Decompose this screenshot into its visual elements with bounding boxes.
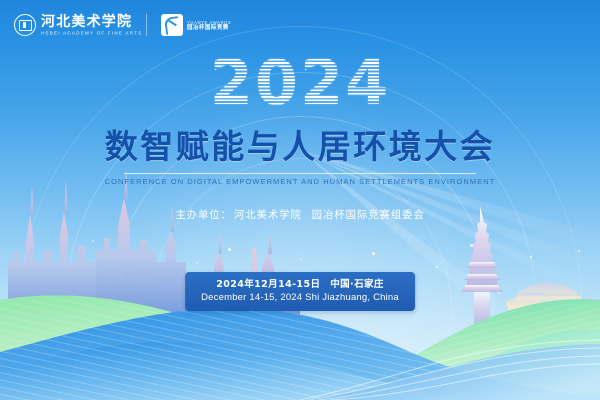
date-badge: 2024年12月14-15日 中国·石家庄 December 14-15, 20… [185,272,415,311]
page-title: 数智赋能与人居环境大会 [0,128,600,166]
sparkle-dot [560,286,562,288]
conference-banner: 河北美术学院 HEBEI ACADEMY OF FINE ARTS YUANYE… [0,0,600,400]
sparkle-dot [578,250,580,252]
wave-strokes [300,340,600,400]
competition-logo[interactable]: YUANYE AWARDS 园冶杯国际竞赛 [161,14,221,36]
chinese-pagoda-silhouette [461,206,503,324]
organizer-name-2: 园冶杯国际竞赛组委会 [312,209,425,221]
sparkle-dot [92,240,94,242]
sparkle-dot [498,292,500,294]
sparkle-dot [372,252,375,255]
logo-bar: 河北美术学院 HEBEI ACADEMY OF FINE ARTS YUANYE… [14,14,221,36]
sparkle-dot [168,290,170,292]
decorative-arc-2 [65,72,537,400]
organizer-name-1: 河北美术学院 [234,209,302,221]
subtitle-divider [124,173,476,174]
sparkle-dot [228,248,231,251]
year-text: 2024 [210,52,391,114]
school-name-cn: 河北美术学院 [41,15,132,30]
sparkle-dot [470,244,473,247]
date-english: December 14-15, 2024 Shi Jiazhuang, Chin… [201,291,399,304]
sparkle-dot [530,256,532,258]
sparkle-dot [82,306,84,308]
chinese-gate-silhouette [504,282,596,344]
school-logo[interactable]: 河北美术学院 HEBEI ACADEMY OF FINE ARTS [14,14,132,36]
year-block: 2024 [0,52,600,114]
organizer-line: 主办单位：河北美术学院园冶杯国际竞赛组委会 [0,207,600,222]
school-name-en: HEBEI ACADEMY OF FINE ARTS [41,31,164,37]
subtitle-english: CONFERENCE ON DIGITAL EMPOWERMENT AND HU… [0,177,600,186]
sparkle-dot [146,250,148,252]
sparkle-dot [28,288,30,290]
wave-foreground [0,330,600,400]
sparkle-dot [58,262,60,264]
sparkle-dot [436,266,438,268]
organizer-label: 主办单位： [175,209,232,221]
hill-blue-center [0,296,600,400]
sparkle-dot [300,258,302,260]
competition-emblem-icon [161,14,183,36]
sparkle-dot [196,262,198,264]
school-emblem-icon [14,14,36,36]
sparkle-dot [120,276,123,279]
date-chinese: 2024年12月14-15日 中国·石家庄 [201,278,399,291]
competition-name-cn: 园冶杯国际竞赛 [187,25,231,31]
